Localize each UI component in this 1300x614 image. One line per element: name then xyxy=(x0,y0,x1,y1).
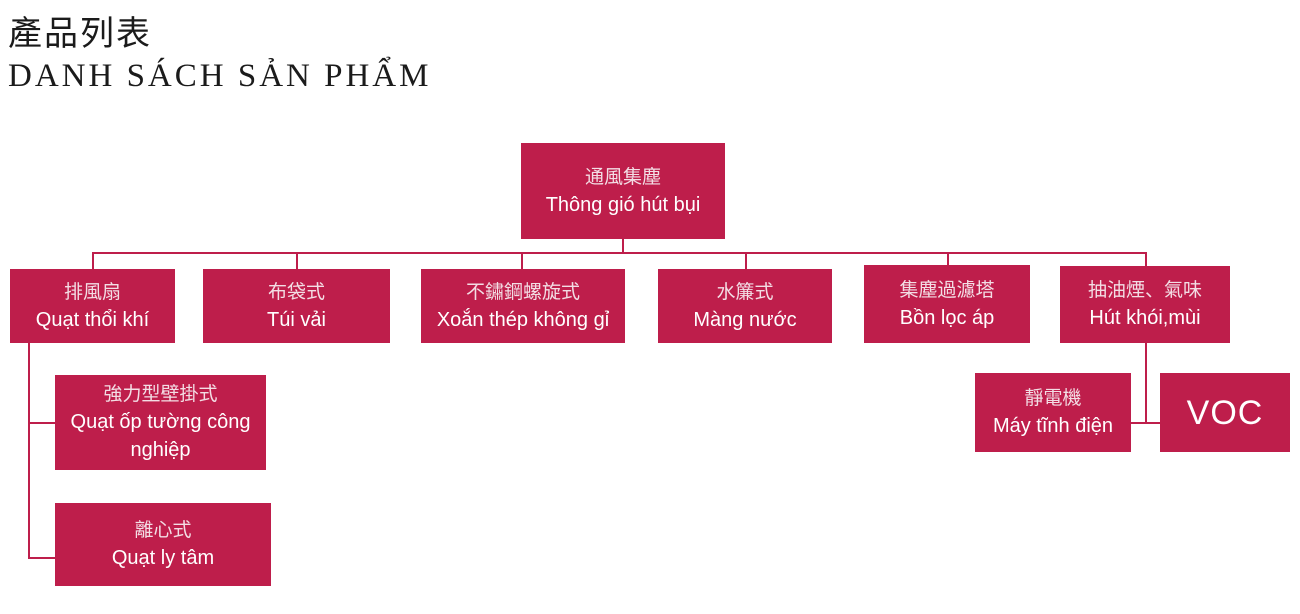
node-fume-odor-extraction-vietnamese: Hút khói,mùi xyxy=(1089,304,1200,332)
page-title: 產品列表 DANH SÁCH SẢN PHẨM xyxy=(8,14,608,96)
node-wall-mounted-industrial-fan-chinese: 強力型壁掛式 xyxy=(103,381,217,408)
connector-drop-n1 xyxy=(92,252,94,269)
node-centrifugal-fan-vietnamese: Quạt ly tâm xyxy=(112,544,214,572)
node-centrifugal-fan-chinese: 離心式 xyxy=(134,517,191,544)
connector-fan-to-child-1 xyxy=(28,422,56,424)
connector-fan-spine xyxy=(28,343,30,558)
connector-fume-to-child-2 xyxy=(1145,422,1161,424)
node-root-vietnamese: Thông gió hút bụi xyxy=(546,191,701,219)
node-exhaust-fan[interactable]: 排風扇 Quạt thổi khí xyxy=(10,269,175,343)
connector-drop-n2 xyxy=(296,252,298,269)
connector-level1-bus xyxy=(92,252,1147,254)
node-electrostatic-precipitator[interactable]: 靜電機 Máy tĩnh điện xyxy=(975,373,1131,452)
connector-fume-spine xyxy=(1145,343,1147,423)
connector-drop-n4 xyxy=(745,252,747,269)
node-cloth-bag-vietnamese: Túi vải xyxy=(267,306,326,334)
node-electrostatic-precipitator-chinese: 靜電機 xyxy=(1024,385,1081,412)
node-root-chinese: 通風集塵 xyxy=(585,164,661,191)
node-exhaust-fan-chinese: 排風扇 xyxy=(64,279,121,306)
connector-root-stem xyxy=(622,239,624,253)
node-voc-label: VOC xyxy=(1187,393,1264,433)
node-dust-filter-tower[interactable]: 集塵過濾塔 Bồn lọc áp xyxy=(864,265,1030,343)
product-list-diagram: 產品列表 DANH SÁCH SẢN PHẨM 通風集塵 Thông gió h… xyxy=(0,0,1300,614)
node-root[interactable]: 通風集塵 Thông gió hút bụi xyxy=(521,143,725,239)
node-fume-odor-extraction-chinese: 抽油煙、氣味 xyxy=(1088,277,1202,304)
node-fume-odor-extraction[interactable]: 抽油煙、氣味 Hút khói,mùi xyxy=(1060,266,1230,343)
node-cloth-bag[interactable]: 布袋式 Túi vải xyxy=(203,269,390,343)
node-centrifugal-fan[interactable]: 離心式 Quạt ly tâm xyxy=(55,503,271,586)
node-stainless-spiral-vietnamese: Xoắn thép không gỉ xyxy=(437,306,609,334)
node-electrostatic-precipitator-vietnamese: Máy tĩnh điện xyxy=(993,412,1113,440)
node-water-curtain-chinese: 水簾式 xyxy=(716,279,773,306)
connector-fan-to-child-2 xyxy=(28,557,56,559)
connector-drop-n5 xyxy=(947,252,949,265)
node-stainless-spiral-chinese: 不鏽鋼螺旋式 xyxy=(466,279,580,306)
node-exhaust-fan-vietnamese: Quạt thổi khí xyxy=(36,306,149,334)
node-water-curtain[interactable]: 水簾式 Màng nước xyxy=(658,269,832,343)
node-wall-mounted-industrial-fan-vietnamese: Quạt ốp tường công nghiệp xyxy=(61,408,260,464)
node-stainless-spiral[interactable]: 不鏽鋼螺旋式 Xoắn thép không gỉ xyxy=(421,269,625,343)
page-title-vietnamese: DANH SÁCH SẢN PHẨM xyxy=(8,56,608,96)
node-dust-filter-tower-vietnamese: Bồn lọc áp xyxy=(900,304,995,332)
node-voc[interactable]: VOC xyxy=(1160,373,1290,452)
node-dust-filter-tower-chinese: 集塵過濾塔 xyxy=(899,277,994,304)
node-water-curtain-vietnamese: Màng nước xyxy=(693,306,796,334)
node-wall-mounted-industrial-fan[interactable]: 強力型壁掛式 Quạt ốp tường công nghiệp xyxy=(55,375,266,470)
node-cloth-bag-chinese: 布袋式 xyxy=(268,279,325,306)
connector-fume-to-child-1 xyxy=(1130,422,1146,424)
page-title-chinese: 產品列表 xyxy=(8,14,608,54)
connector-drop-n6 xyxy=(1145,252,1147,266)
connector-drop-n3 xyxy=(521,252,523,269)
